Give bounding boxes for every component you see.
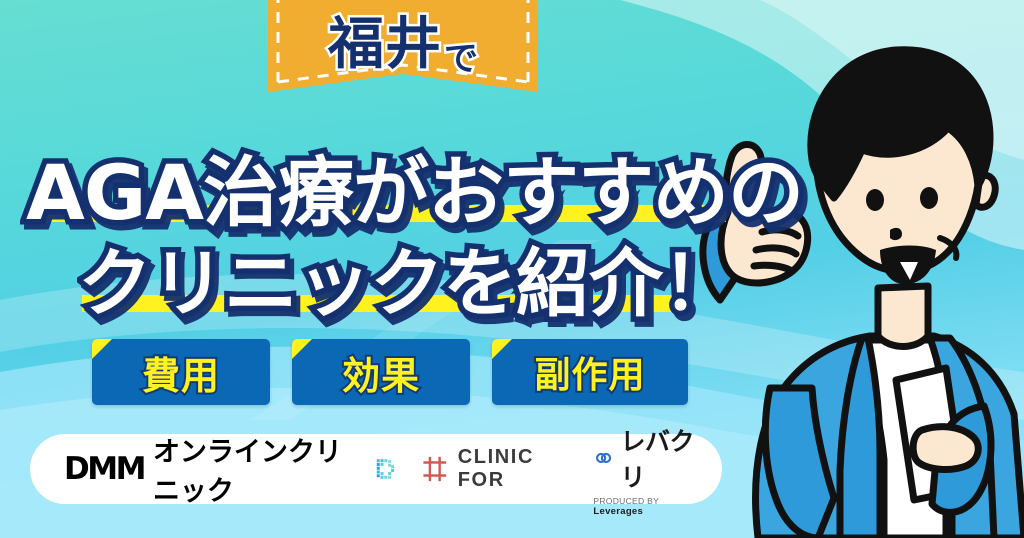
dmm-brand-text: DMM xyxy=(64,451,144,487)
ribbon-region-text: 福井 xyxy=(328,0,442,80)
headline-line-2: クリニックを紹介！ xyxy=(78,224,735,331)
levacli-produced-prefix: PRODUCED BY xyxy=(593,496,659,506)
levacli-produced-company: Leverages xyxy=(593,506,643,517)
badge-cost[interactable]: 費用 xyxy=(92,339,270,405)
badge-side-effects-label: 副作用 xyxy=(534,346,645,398)
badge-cost-label: 費用 xyxy=(142,345,220,400)
banner-root: 福井 で AGA治療がおすすめの クリニックを紹介！ 費用 効果 副作用 DMM… xyxy=(0,0,1024,538)
partner-logo-pill: DMM オンラインクリニック xyxy=(30,434,722,504)
illustration-person xyxy=(684,0,1024,538)
logo-clinic-for[interactable]: CLINIC FOR xyxy=(421,446,563,492)
headline: AGA治療がおすすめの クリニックを紹介！ xyxy=(0,140,760,322)
badge-side-effects[interactable]: 副作用 xyxy=(492,339,688,405)
headline-line-1-row: AGA治療がおすすめの xyxy=(0,140,760,232)
chain-link-icon xyxy=(593,447,614,469)
headline-line-2-row: クリニックを紹介！ xyxy=(0,232,760,322)
feature-badges: 費用 効果 副作用 xyxy=(92,339,688,405)
red-cross-icon xyxy=(421,452,449,486)
badge-effect[interactable]: 効果 xyxy=(292,339,470,405)
dmm-d-pixel-icon xyxy=(376,455,396,483)
clinic-for-label: CLINIC FOR xyxy=(458,446,564,492)
badge-effect-label: 効果 xyxy=(342,345,420,400)
region-ribbon: 福井 で xyxy=(268,0,538,102)
logo-dmm-online-clinic[interactable]: DMM オンラインクリニック xyxy=(64,430,395,508)
dmm-service-text: オンラインクリニック xyxy=(153,430,357,508)
ribbon-particle-text: で xyxy=(444,31,478,86)
